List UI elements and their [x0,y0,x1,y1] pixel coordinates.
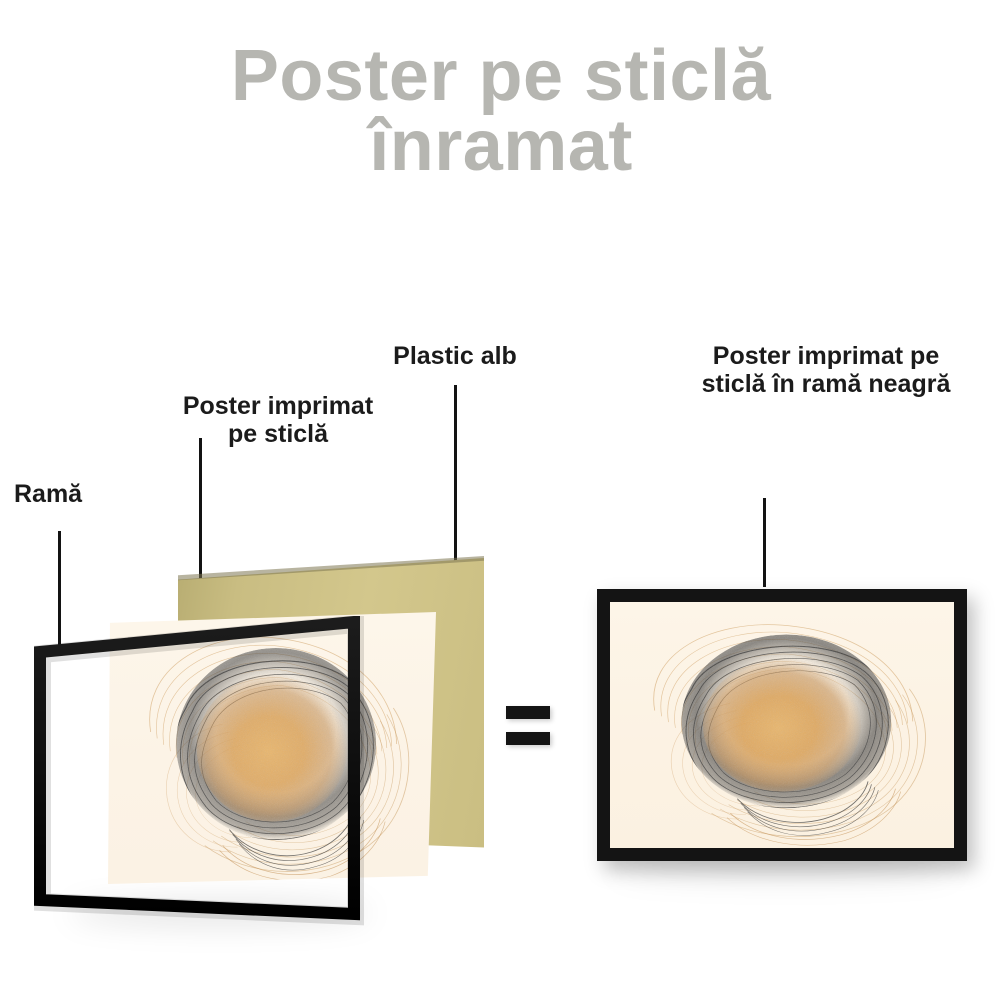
equals-sign [506,706,550,746]
result-framed-poster [597,589,967,861]
equals-bar-top [506,706,550,719]
result-poster-artwork [610,602,954,848]
label-result: Poster imprimat pe sticlă în ramă neagră [650,342,1002,398]
exploded-assembly [0,0,520,1000]
poster-infographic: Poster pe sticlă înramat Ramă Poster imp… [0,0,1002,1000]
leader-line-result [763,498,766,587]
equals-bar-bottom [506,732,550,745]
black-frame-outline [34,616,364,926]
artwork-abstract-sphere-result [610,602,954,848]
